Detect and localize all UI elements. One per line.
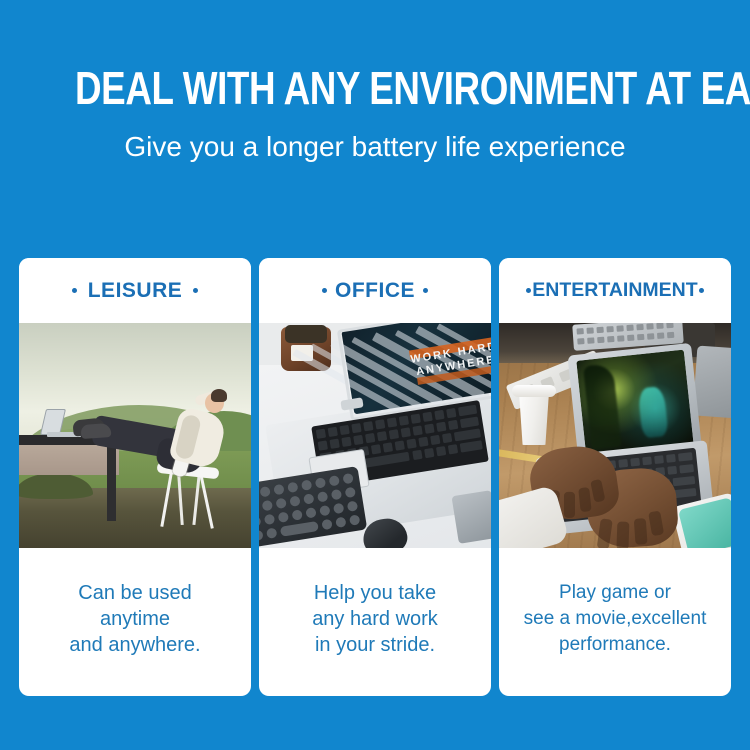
caption-line: anytime (69, 606, 200, 632)
page-title: DEAL WITH ANY ENVIRONMENT AT EASE (75, 62, 675, 114)
card-title-office: OFFICE (314, 279, 436, 303)
photo-coffee-cup-lid (512, 385, 556, 397)
feature-card-office[interactable]: OFFICE (259, 258, 491, 696)
promo-poster: DEAL WITH ANY ENVIRONMENT AT EASE Give y… (0, 0, 750, 750)
caption-text: Help you take any hard work in your stri… (312, 580, 438, 658)
card-caption-leisure: Can be used anytime and anywhere. (19, 548, 251, 696)
bullet-dot-icon (322, 288, 327, 293)
header-block: DEAL WITH ANY ENVIRONMENT AT EASE Give y… (0, 62, 750, 164)
caption-text: Can be used anytime and anywhere. (69, 580, 200, 658)
card-caption-office: Help you take any hard work in your stri… (259, 548, 491, 696)
photo-watch (451, 490, 491, 544)
bullet-dot-icon (193, 288, 198, 293)
card-photo-leisure (19, 323, 251, 548)
photo-desk-body (19, 443, 119, 475)
caption-line: see a movie,excellent (524, 606, 707, 632)
card-photo-office: WORK HARD ANYWHERE (259, 323, 491, 548)
photo-game-foliage (583, 363, 622, 450)
card-header-entertainment: ENTERTAINMENT (499, 258, 731, 323)
caption-line: in your stride. (312, 632, 438, 658)
card-photo-entertainment (499, 323, 731, 548)
caption-line: any hard work (312, 606, 438, 632)
bullet-dot-icon (526, 288, 531, 293)
bullet-dot-icon (72, 288, 77, 293)
photo-person-hair (211, 389, 227, 402)
feature-cards-row: LEISURE (19, 258, 731, 696)
photo-second-laptop (693, 345, 731, 418)
card-header-office: OFFICE (259, 258, 491, 323)
card-title-leisure: LEISURE (61, 279, 210, 303)
feature-card-entertainment[interactable]: ENTERTAINMENT (499, 258, 731, 696)
card-title-text: ENTERTAINMENT (532, 279, 697, 302)
caption-line: Can be used (69, 580, 200, 606)
bullet-dot-icon (699, 288, 704, 293)
caption-text: Play game or see a movie,excellent perfo… (524, 580, 707, 658)
bullet-dot-icon (423, 288, 428, 293)
caption-line: Play game or (524, 580, 707, 606)
photo-game-screen (576, 350, 693, 457)
card-title-text: LEISURE (88, 279, 183, 303)
card-caption-entertainment: Play game or see a movie,excellent perfo… (499, 548, 731, 696)
card-title-text: OFFICE (335, 279, 415, 303)
caption-line: Help you take (312, 580, 438, 606)
photo-backpack-flap (285, 325, 327, 343)
photo-game-character (638, 386, 669, 438)
caption-line: and anywhere. (69, 632, 200, 658)
page-subtitle: Give you a longer battery life experienc… (0, 114, 750, 164)
photo-person-shoe (81, 423, 112, 439)
card-title-entertainment: ENTERTAINMENT (525, 279, 704, 302)
photo-desk-leg (107, 443, 116, 521)
card-header-leisure: LEISURE (19, 258, 251, 323)
feature-card-leisure[interactable]: LEISURE (19, 258, 251, 696)
caption-line: performance. (524, 632, 707, 658)
